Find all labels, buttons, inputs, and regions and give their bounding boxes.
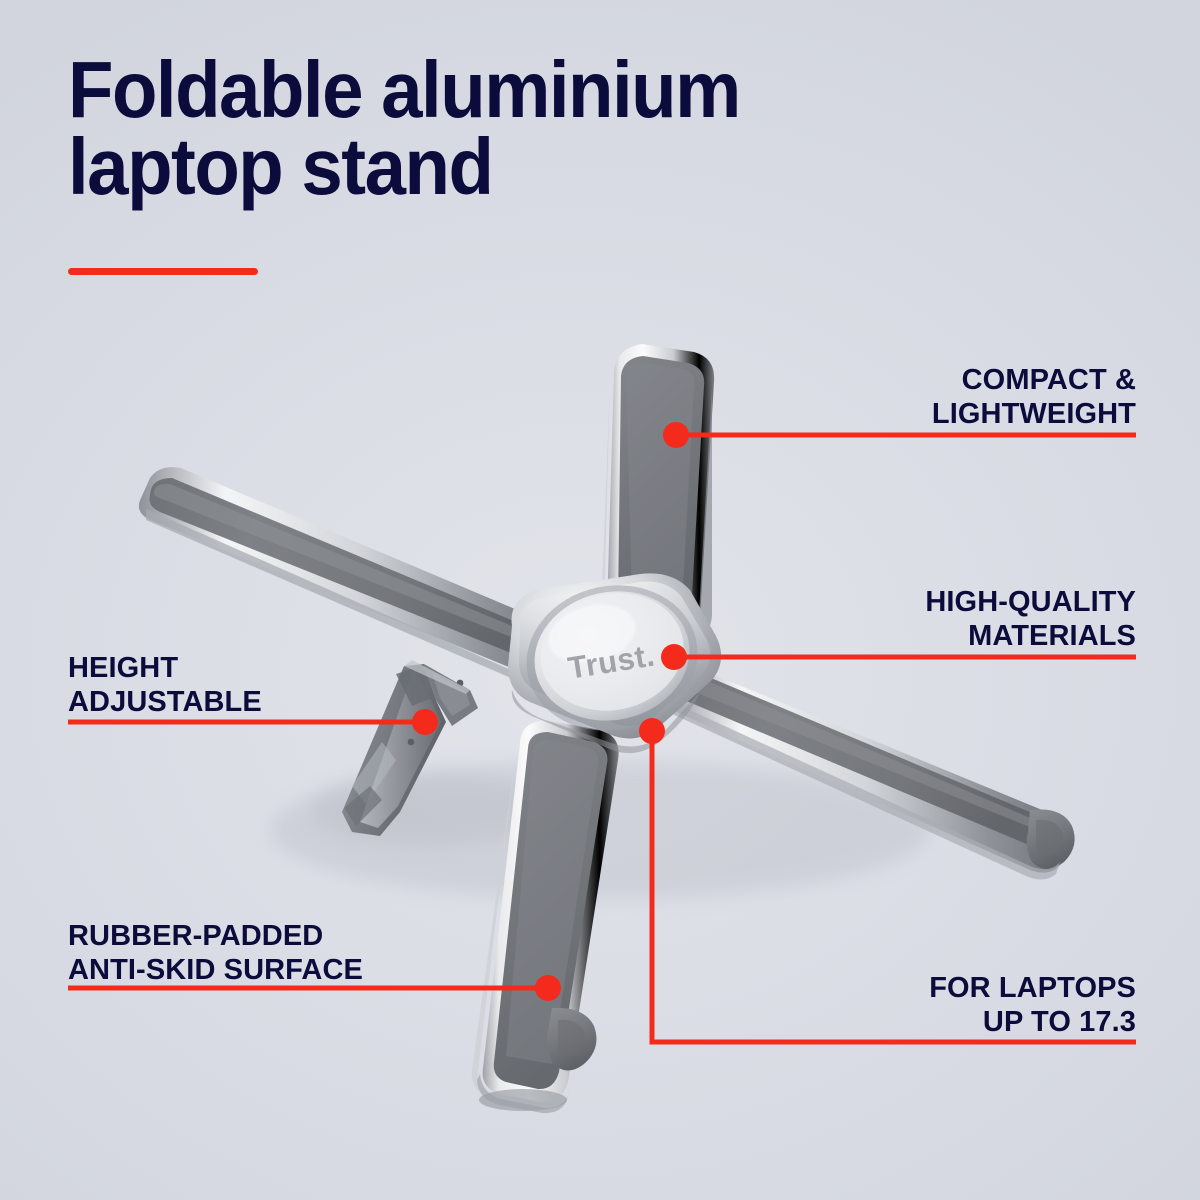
title-accent-rule (68, 268, 258, 275)
callout-height-line-2: ADJUSTABLE (68, 686, 262, 720)
callout-materials-line-1: HIGH-QUALITY (925, 586, 1136, 620)
callout-rubber-padded-anti-skid: RUBBER-PADDED ANTI-SKID SURFACE (68, 920, 363, 987)
callout-for-laptops: FOR LAPTOPS UP TO 17.3 (929, 972, 1136, 1039)
callout-height-line-1: HEIGHT (68, 652, 262, 686)
callout-compact-line-2: LIGHTWEIGHT (932, 398, 1136, 432)
title-line-2: laptop stand (68, 129, 979, 206)
callout-compact-lightweight: COMPACT & LIGHTWEIGHT (932, 364, 1136, 431)
page-title: Foldable aluminium laptop stand (68, 52, 1048, 206)
infographic-canvas: Trust. Foldable aluminium laptop stand (0, 0, 1200, 1200)
callout-antiskid-line-2: ANTI-SKID SURFACE (68, 954, 363, 988)
callout-laptops-line-1: FOR LAPTOPS (929, 972, 1136, 1006)
callout-height-adjustable: HEIGHT ADJUSTABLE (68, 652, 262, 719)
callout-compact-line-1: COMPACT & (932, 364, 1136, 398)
callout-antiskid-line-1: RUBBER-PADDED (68, 920, 363, 954)
callout-laptops-line-2: UP TO 17.3 (929, 1006, 1136, 1040)
callout-high-quality-materials: HIGH-QUALITY MATERIALS (925, 586, 1136, 653)
title-line-1: Foldable aluminium (68, 52, 979, 129)
callout-materials-line-2: MATERIALS (925, 620, 1136, 654)
